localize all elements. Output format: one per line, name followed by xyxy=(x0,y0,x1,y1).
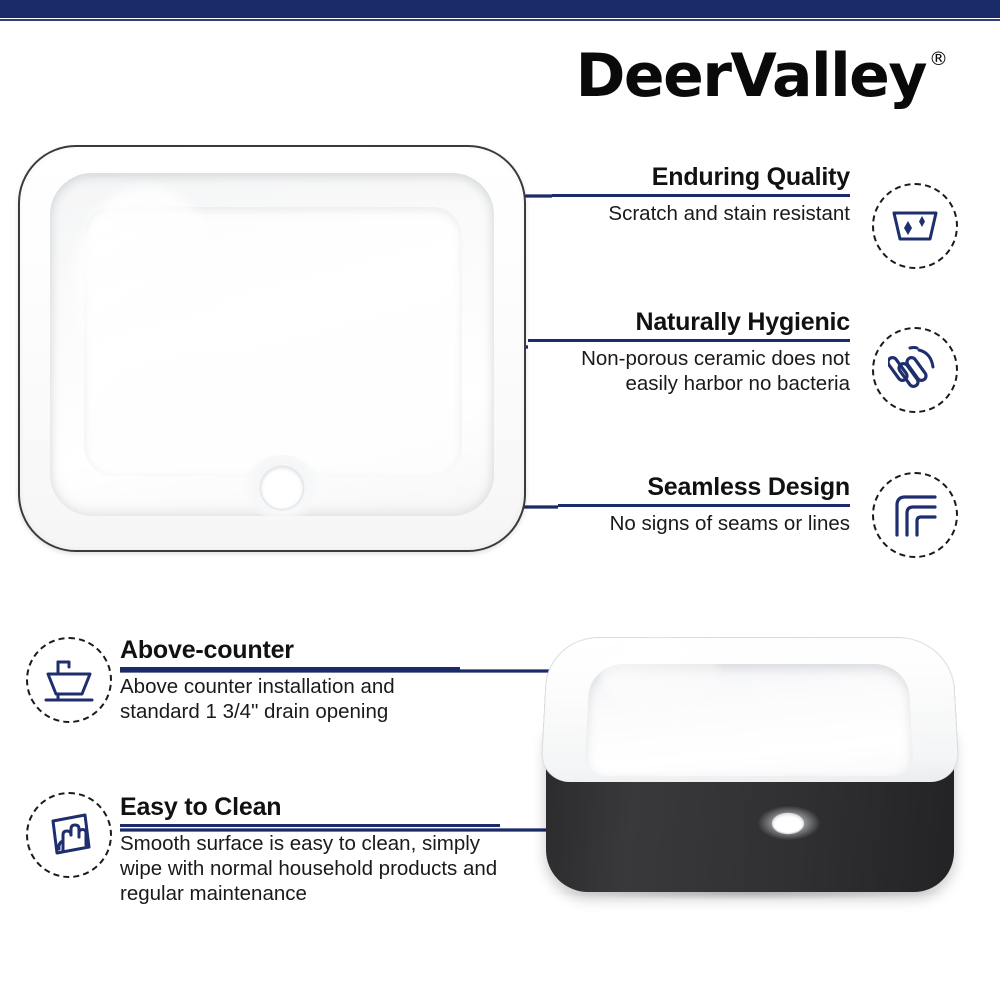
sparkle-basin-icon xyxy=(872,183,958,269)
rounded-corner-lines-icon xyxy=(872,472,958,558)
sink-angled-view-image xyxy=(498,628,990,928)
feature-divider xyxy=(552,194,850,197)
feature-body: No signs of seams or lines xyxy=(558,511,850,536)
top-navy-banner xyxy=(0,0,1000,18)
feature-divider xyxy=(120,824,500,827)
feature-block-naturally-hygienic: Naturally Hygienic Non-porous ceramic do… xyxy=(528,308,850,396)
feature-title: Seamless Design xyxy=(558,473,850,501)
sink-top-drain-opening xyxy=(261,467,303,509)
sink-top-view-image xyxy=(18,145,526,552)
feature-title: Above-counter xyxy=(120,636,460,664)
hand-wiping-cloth-icon xyxy=(26,792,112,878)
feature-block-enduring-quality: Enduring Quality Scratch and stain resis… xyxy=(552,163,850,226)
registered-trademark-icon: ® xyxy=(929,50,948,69)
infographic-page: DeerValley ® xyxy=(0,0,1000,1000)
sink-angled-drain-opening xyxy=(773,814,803,833)
feature-body: Scratch and stain resistant xyxy=(552,201,850,226)
feature-title: Enduring Quality xyxy=(552,163,850,191)
feature-block-easy-to-clean: Easy to Clean Smooth surface is easy to … xyxy=(120,793,500,906)
feature-title: Naturally Hygienic xyxy=(528,308,850,336)
feature-body: Non-porous ceramic does not easily harbo… xyxy=(528,346,850,396)
feature-block-above-counter: Above-counter Above counter installation… xyxy=(120,636,460,724)
top-banner-rule xyxy=(0,19,1000,21)
bacteria-icon xyxy=(872,327,958,413)
brand-name: DeerValley xyxy=(576,46,926,106)
pedestal-sink-faucet-icon xyxy=(26,637,112,723)
feature-body: Above counter installation and standard … xyxy=(120,674,460,724)
sink-angled-body xyxy=(540,628,960,896)
feature-divider xyxy=(558,504,850,507)
sink-angled-highlight xyxy=(600,640,720,710)
brand-logo: DeerValley ® xyxy=(576,46,948,106)
feature-title: Easy to Clean xyxy=(120,793,500,821)
feature-body: Smooth surface is easy to clean, simply … xyxy=(120,831,500,906)
feature-block-seamless-design: Seamless Design No signs of seams or lin… xyxy=(558,473,850,536)
feature-divider xyxy=(528,339,850,342)
feature-divider xyxy=(120,667,460,670)
